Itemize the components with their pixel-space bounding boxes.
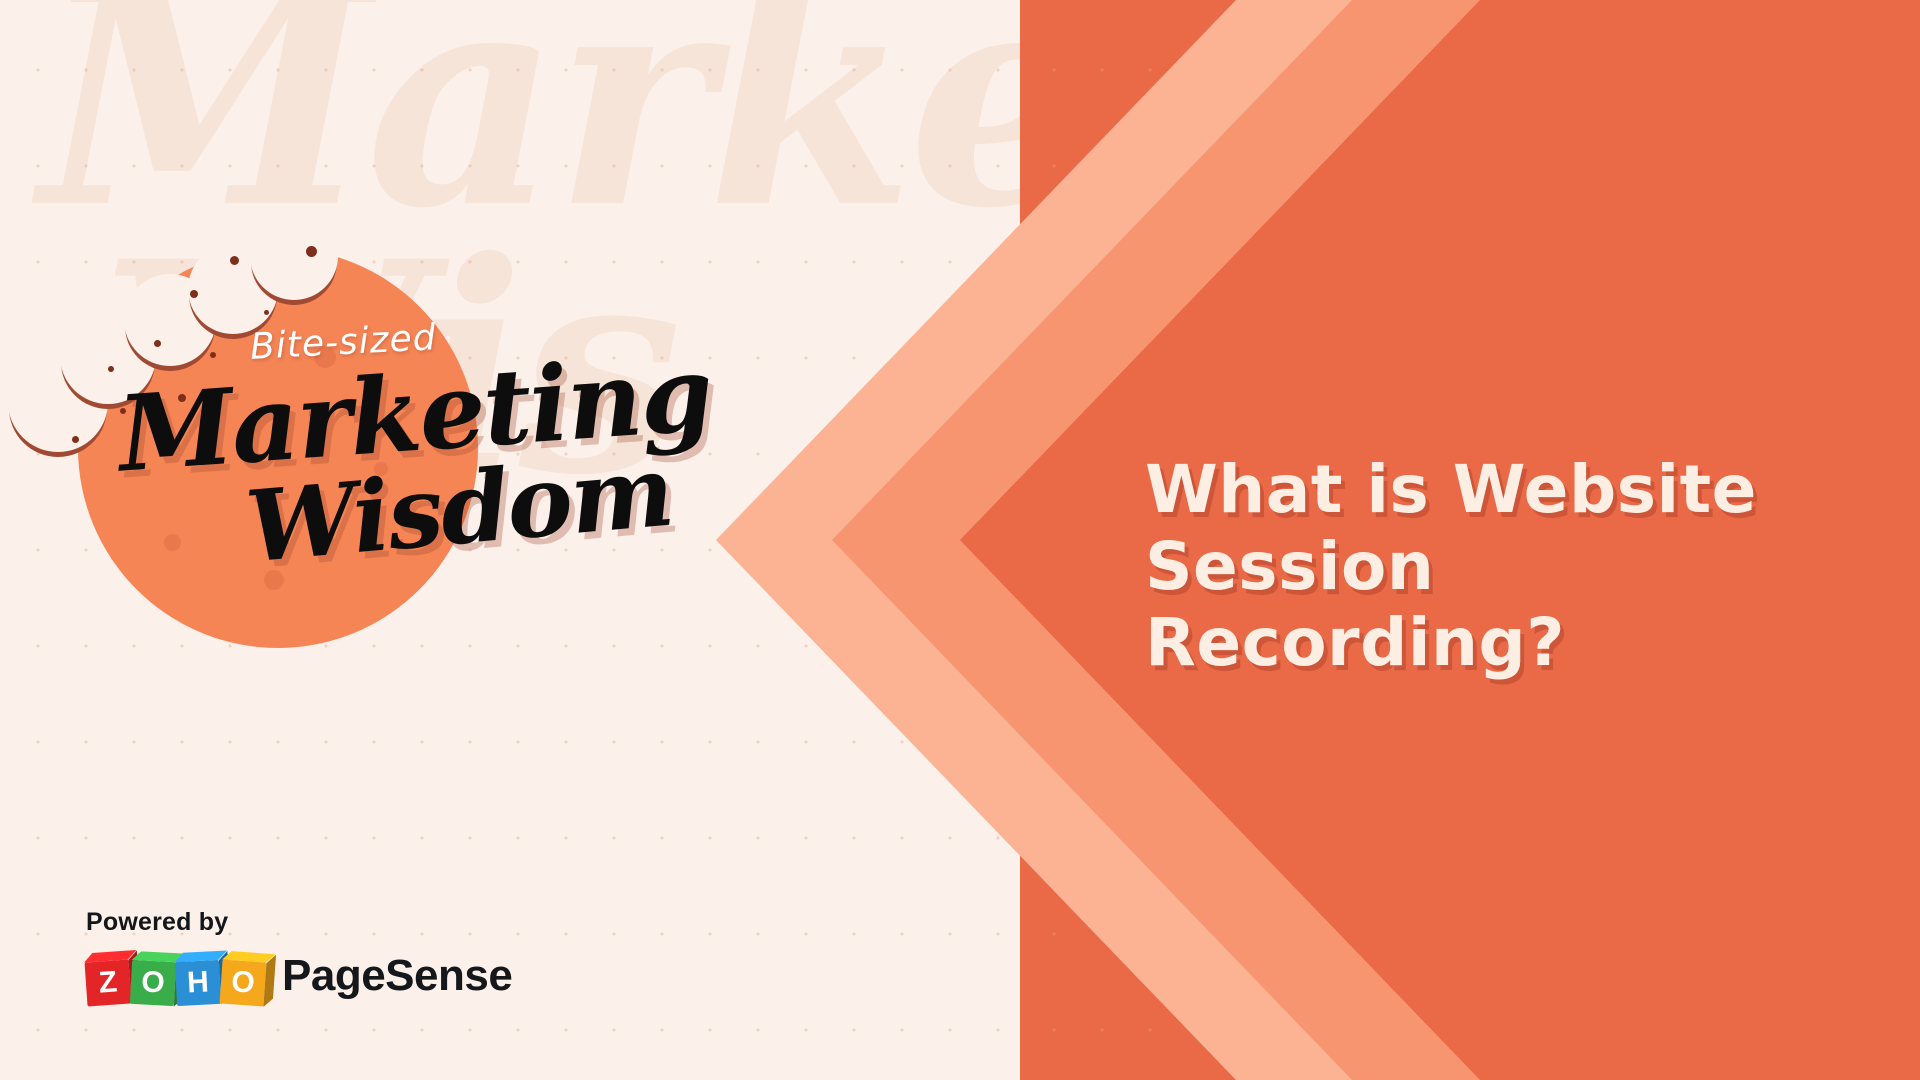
pagesense-wordmark: PageSense xyxy=(282,951,512,1001)
zoho-letter-block-o2: O xyxy=(220,960,267,1007)
slide-canvas: Market Wis xyxy=(0,0,1920,1080)
left-panel: Market Wis xyxy=(0,0,1060,1080)
powered-by-label: Powered by xyxy=(86,908,546,937)
powered-by-block: Powered by Z O H O PageSense xyxy=(86,908,546,1005)
zoho-letter-block-z: Z xyxy=(85,960,132,1007)
zoho-letter-block-o1: O xyxy=(130,960,176,1006)
circle-outline-icon-top xyxy=(1460,0,1920,390)
zoho-blocks-icon: Z O H O xyxy=(86,947,262,1005)
zoho-letter-block-h: H xyxy=(175,960,221,1006)
circle-outline-icon-bottom xyxy=(1436,686,1920,1080)
page-title-line-1: What is Website xyxy=(1145,452,1865,529)
logo-lockup: Bite-sized Marketing Wisdom xyxy=(118,310,588,570)
zoho-pagesense-logo[interactable]: Z O H O PageSense xyxy=(86,947,546,1005)
page-title-line-2: Session Recording? xyxy=(1145,529,1865,682)
page-title: What is Website Session Recording? xyxy=(1145,452,1865,682)
